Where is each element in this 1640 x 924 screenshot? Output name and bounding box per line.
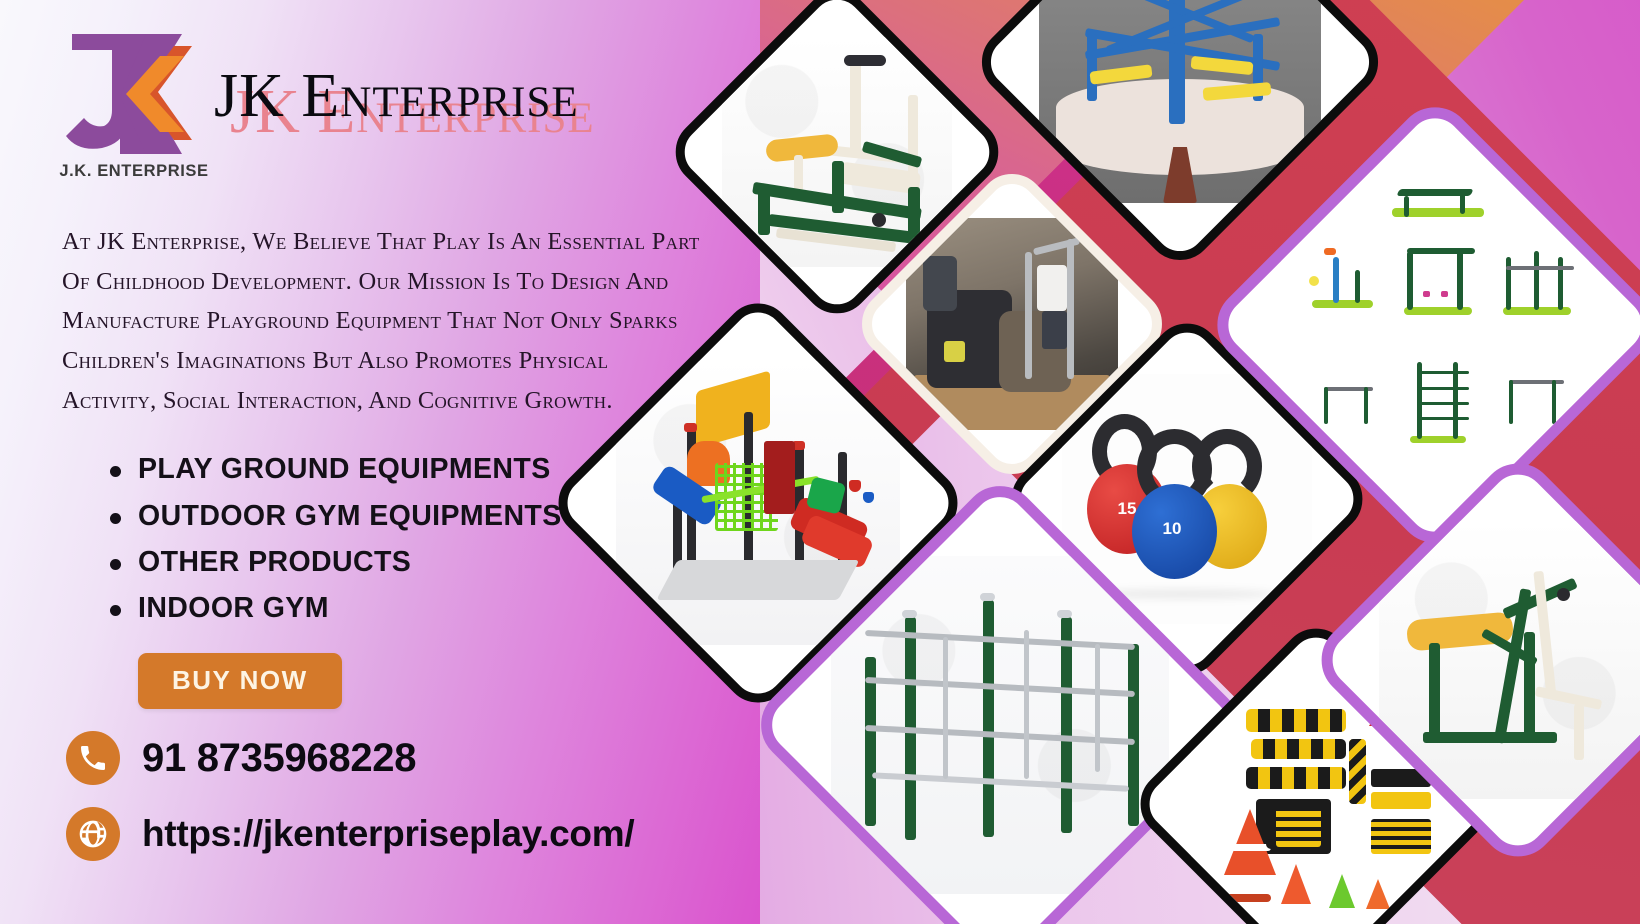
phone-contact[interactable]: 91 8735968228 xyxy=(66,731,720,785)
list-item-playground[interactable]: PLAY GROUND EQUIPMENTS xyxy=(92,446,720,492)
buy-now-button[interactable]: BUY NOW xyxy=(138,653,342,709)
kettlebell-weight-blue: 10 xyxy=(1152,514,1192,544)
website-contact[interactable]: https://jkenterpriseplay.com/ xyxy=(66,807,720,861)
page-title: JK Enterprise JK Enterprise xyxy=(214,64,720,164)
logo[interactable]: J.K. ENTERPRISE xyxy=(62,30,198,190)
info-panel: J.K. ENTERPRISE JK Enterprise JK Enterpr… xyxy=(0,0,720,924)
phone-number: 91 8735968228 xyxy=(142,736,416,781)
logo-caption: J.K. ENTERPRISE xyxy=(50,162,218,181)
phone-icon xyxy=(66,731,120,785)
marketing-poster: 15 10 xyxy=(0,0,1640,924)
list-item-indoor-gym[interactable]: INDOOR GYM xyxy=(92,585,720,631)
brand-header: J.K. ENTERPRISE JK Enterprise JK Enterpr… xyxy=(62,24,720,190)
website-url: https://jkenterpriseplay.com/ xyxy=(142,813,634,855)
jk-monogram-icon xyxy=(62,30,198,158)
list-item-other[interactable]: OTHER PRODUCTS xyxy=(92,539,720,585)
list-item-outdoor-gym[interactable]: OUTDOOR GYM EQUIPMENTS xyxy=(92,493,720,539)
page-title-text: JK Enterprise xyxy=(214,64,579,129)
product-category-list: PLAY GROUND EQUIPMENTS OUTDOOR GYM EQUIP… xyxy=(92,446,720,631)
about-paragraph: At JK Enterprise, We Believe That Play I… xyxy=(62,222,702,420)
globe-icon xyxy=(66,807,120,861)
